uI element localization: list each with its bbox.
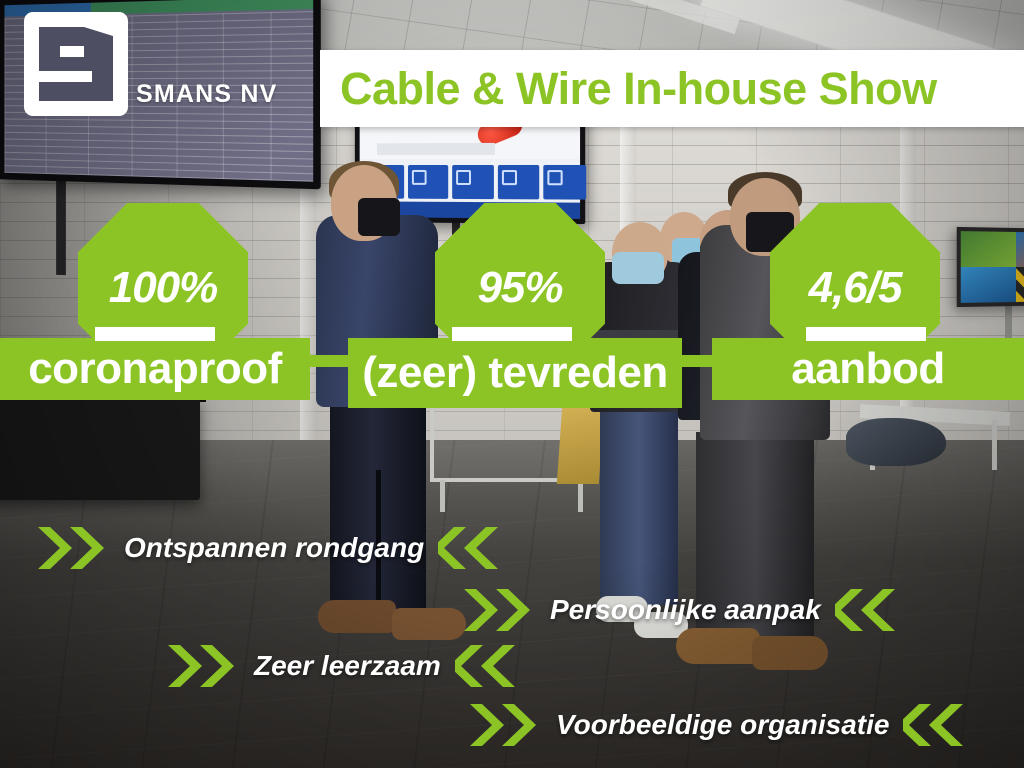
chevron-right-icon bbox=[38, 527, 110, 569]
highlight-text: Ontspannen rondgang bbox=[124, 532, 424, 564]
monitor-right-quad bbox=[1016, 232, 1024, 267]
shoe bbox=[752, 636, 828, 670]
chevron-left-icon bbox=[835, 589, 897, 631]
shoe bbox=[676, 628, 760, 664]
chevron-left-icon bbox=[455, 645, 517, 687]
stat-label: aanbod bbox=[791, 344, 944, 394]
face-mask bbox=[358, 198, 400, 236]
monitor-tile bbox=[544, 165, 587, 200]
stat-divider-bar bbox=[806, 327, 926, 341]
cart-leg bbox=[440, 480, 445, 512]
stat-divider-bar bbox=[452, 327, 572, 341]
rack-leg bbox=[992, 420, 997, 470]
smans-logo-icon bbox=[24, 12, 128, 116]
chevron-left-icon bbox=[438, 527, 500, 569]
highlight-row-zeer-leerzaam: Zeer leerzaam bbox=[168, 645, 517, 687]
monitor-large-stand bbox=[56, 180, 66, 275]
face-mask bbox=[612, 252, 664, 284]
chevron-right-icon bbox=[464, 589, 536, 631]
shoe bbox=[318, 600, 396, 633]
hazard-graphic bbox=[1016, 267, 1024, 302]
stat-value: 100% bbox=[109, 263, 218, 313]
highlight-row-voorbeeldige-organisatie: Voorbeeldige organisatie bbox=[470, 704, 965, 746]
covered-equipment bbox=[846, 418, 946, 466]
monitor-tile bbox=[408, 165, 449, 199]
monitor-right-quad bbox=[961, 267, 1016, 303]
monitor-right bbox=[957, 227, 1024, 307]
chevron-left-icon bbox=[903, 704, 965, 746]
person-legs bbox=[600, 405, 678, 605]
stat-value: 4,6/5 bbox=[809, 263, 902, 313]
stat-divider-bar bbox=[95, 327, 215, 341]
black-machine bbox=[0, 398, 200, 500]
stat-band-tevreden: (zeer) tevreden bbox=[348, 338, 682, 408]
highlight-text: Persoonlijke aanpak bbox=[550, 594, 821, 626]
stat-band-coronaproof: coronaproof bbox=[0, 338, 310, 400]
band-connector bbox=[682, 355, 712, 367]
stat-band-aanbod: aanbod bbox=[712, 338, 1024, 400]
monitor-right-quad bbox=[961, 231, 1016, 267]
promo-graphic: SMANS NV Cable & Wire In-house Show 100%… bbox=[0, 0, 1024, 768]
chevron-right-icon bbox=[470, 704, 542, 746]
shoe bbox=[392, 608, 466, 640]
stat-label: (zeer) tevreden bbox=[362, 348, 668, 398]
band-connector bbox=[310, 355, 348, 367]
highlight-row-ontspannen-rondgang: Ontspannen rondgang bbox=[38, 527, 500, 569]
brand-name: SMANS NV bbox=[136, 82, 278, 107]
stat-value: 95% bbox=[477, 263, 562, 313]
monitor-centre-field bbox=[377, 143, 495, 155]
chevron-right-icon bbox=[168, 645, 240, 687]
cart-leg bbox=[578, 480, 583, 512]
monitor-tile bbox=[498, 165, 540, 199]
highlight-text: Voorbeeldige organisatie bbox=[556, 709, 889, 741]
title-banner: Cable & Wire In-house Show bbox=[320, 50, 1024, 127]
highlight-text: Zeer leerzaam bbox=[254, 650, 441, 682]
page-title: Cable & Wire In-house Show bbox=[340, 63, 937, 115]
stat-label: coronaproof bbox=[28, 344, 282, 394]
highlight-row-persoonlijke-aanpak: Persoonlijke aanpak bbox=[464, 589, 897, 631]
monitor-tile bbox=[452, 165, 493, 199]
